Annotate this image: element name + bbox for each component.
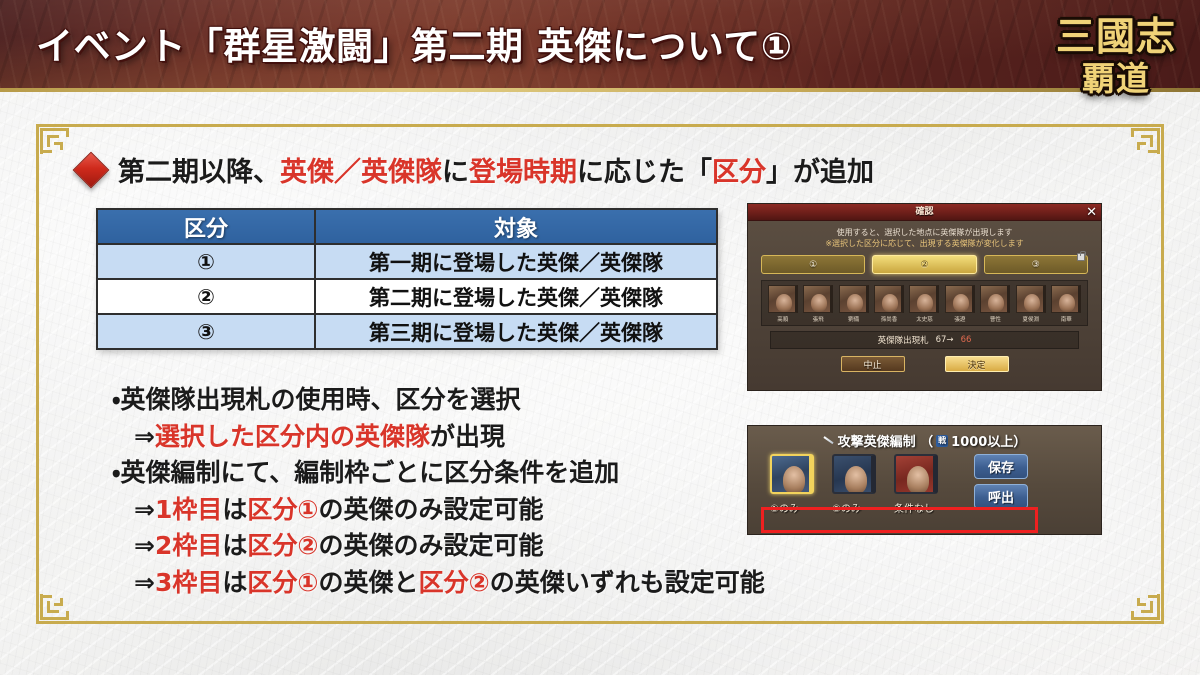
formation-slot-row: ①のみ ②のみ 条件なし 保存 呼出 bbox=[770, 454, 1101, 515]
table-header-kubun: 区分 bbox=[97, 209, 315, 244]
slot3-mid-2: の英傑と bbox=[319, 568, 419, 597]
sword-icon bbox=[823, 435, 835, 447]
table-row: ② 第二期に登場した英傑／英傑隊 bbox=[97, 279, 717, 314]
headline: 第二期以降、英傑／英傑隊に登場時期に応じた「区分」が追加 bbox=[78, 150, 874, 189]
bullet-1-tail: が出現 bbox=[430, 422, 505, 451]
hero-name: 夏侯淵 bbox=[1013, 315, 1048, 323]
slot1-tail: の英傑のみ設定可能 bbox=[319, 495, 544, 524]
formation-slot-2[interactable]: ②のみ bbox=[832, 454, 894, 515]
dialog-message-line-2: ※選択した区分に応じて、出現する英傑隊が変化します bbox=[756, 238, 1093, 249]
slot2-red: 2枠目 bbox=[155, 531, 222, 560]
hero-name: 張遼 bbox=[942, 315, 977, 323]
lock-icon bbox=[1077, 253, 1085, 261]
hero-name: 南華 bbox=[1049, 315, 1084, 323]
diamond-bullet-icon bbox=[73, 151, 110, 188]
close-icon[interactable]: ✕ bbox=[1086, 204, 1097, 221]
dialog-actions: 中止 決定 bbox=[756, 356, 1093, 372]
ticket-counter: 英傑隊出現札 67→66 bbox=[770, 331, 1079, 349]
headline-seg-red-3: 区分 bbox=[712, 157, 766, 188]
headline-seg-red-2: 登場時期 bbox=[469, 157, 577, 188]
frame-corner-top-right bbox=[1118, 124, 1164, 160]
hero-item[interactable]: 南華 bbox=[1049, 285, 1084, 323]
kubun-table: 区分 対象 ① 第一期に登場した英傑／英傑隊 ② 第二期に登場した英傑／英傑隊 … bbox=[96, 208, 718, 350]
slot3-tail: の英傑いずれも設定可能 bbox=[490, 568, 765, 597]
bullet-list: ・英傑隊出現札の使用時、区分を選択 ⇒選択した区分内の英傑隊が出現 ・英傑編制に… bbox=[112, 382, 765, 601]
logo-title-sub: 覇道 bbox=[1046, 52, 1186, 100]
kubun-tab-group: ① ② ③ bbox=[761, 255, 1088, 274]
hero-item[interactable]: 劉備 bbox=[836, 285, 871, 323]
hero-portrait bbox=[768, 285, 798, 313]
battle-power-badge: 戦 bbox=[936, 435, 948, 447]
bullet-line-1-sub: ⇒選択した区分内の英傑隊が出現 bbox=[112, 419, 765, 456]
arrow-glyph: ⇒ bbox=[134, 495, 155, 524]
hero-item[interactable]: 曹性 bbox=[978, 285, 1013, 323]
table-cell-kubun: ③ bbox=[97, 314, 315, 349]
bullet-1-red: 選択した区分内の英傑隊 bbox=[155, 422, 430, 451]
table-cell-target: 第一期に登場した英傑／英傑隊 bbox=[315, 244, 717, 279]
formation-portrait bbox=[832, 454, 876, 494]
header-band: イベント「群星激闘」第二期 英傑について① bbox=[0, 0, 1200, 92]
formation-buttons: 保存 呼出 bbox=[974, 454, 1028, 509]
arrow-glyph: ⇒ bbox=[134, 531, 155, 560]
hero-item[interactable]: 夏侯淵 bbox=[1013, 285, 1048, 323]
formation-title-tail: 1000以上） bbox=[951, 431, 1026, 450]
hero-item[interactable]: 高順 bbox=[765, 285, 800, 323]
hero-item[interactable]: 太史慈 bbox=[907, 285, 942, 323]
slot1-mid: は bbox=[222, 495, 247, 524]
hero-portrait bbox=[1051, 285, 1081, 313]
headline-seg-1: 第二期以降、 bbox=[118, 157, 280, 188]
frame-corner-bottom-right bbox=[1118, 588, 1164, 624]
slot3-kubun-red-1: 区分① bbox=[247, 568, 318, 597]
formation-title: 攻撃英傑編制 （戦1000以上） bbox=[748, 431, 1101, 450]
headline-seg-red-1: 英傑／英傑隊 bbox=[280, 157, 442, 188]
formation-slot-3[interactable]: 条件なし bbox=[894, 454, 956, 515]
bullet-line-2-sub-3: ⇒3枠目は区分①の英傑と区分②の英傑いずれも設定可能 bbox=[112, 565, 765, 602]
hero-name: 太史慈 bbox=[907, 315, 942, 323]
table-cell-target: 第三期に登場した英傑／英傑隊 bbox=[315, 314, 717, 349]
ticket-label: 英傑隊出現札 bbox=[878, 334, 929, 346]
dialog-message-line-1: 使用すると、選択した地点に英傑隊が出現します bbox=[756, 227, 1093, 238]
hero-name: 張飛 bbox=[800, 315, 835, 323]
dialog-title-text: 確認 bbox=[748, 204, 1101, 221]
bullet-line-2-sub-1: ⇒1枠目は区分①の英傑のみ設定可能 bbox=[112, 492, 765, 529]
ticket-before: 67→ bbox=[936, 335, 954, 345]
bullet-line-1: ・英傑隊出現札の使用時、区分を選択 bbox=[112, 382, 765, 419]
slot3-mid-1: は bbox=[222, 568, 247, 597]
recall-button[interactable]: 呼出 bbox=[974, 484, 1028, 509]
game-logo: 三國志 覇道 bbox=[1046, 4, 1186, 108]
hero-name: 劉備 bbox=[836, 315, 871, 323]
hero-portrait bbox=[839, 285, 869, 313]
table-row: ① 第一期に登場した英傑／英傑隊 bbox=[97, 244, 717, 279]
formation-condition-3: 条件なし bbox=[894, 500, 956, 515]
screenshot-formation-panel: 攻撃英傑編制 （戦1000以上） ①のみ ②のみ 条件なし 保存 呼出 bbox=[747, 425, 1102, 535]
formation-portrait bbox=[770, 454, 814, 494]
hero-portrait bbox=[803, 285, 833, 313]
hero-portrait bbox=[945, 285, 975, 313]
kubun-tab-3[interactable]: ③ bbox=[984, 255, 1088, 274]
slot2-mid: は bbox=[222, 531, 247, 560]
headline-text: 第二期以降、英傑／英傑隊に登場時期に応じた「区分」が追加 bbox=[118, 150, 874, 189]
formation-title-text: 攻撃英傑編制 （ bbox=[838, 431, 934, 450]
table-header-row: 区分 対象 bbox=[97, 209, 717, 244]
kubun-tab-3-label: ③ bbox=[1032, 260, 1040, 270]
slot3-kubun-red-2: 区分② bbox=[419, 568, 490, 597]
table-cell-target: 第二期に登場した英傑／英傑隊 bbox=[315, 279, 717, 314]
frame-corner-bottom-left bbox=[36, 588, 82, 624]
formation-condition-1: ①のみ bbox=[770, 500, 832, 515]
formation-portrait bbox=[894, 454, 938, 494]
table-row: ③ 第三期に登場した英傑／英傑隊 bbox=[97, 314, 717, 349]
kubun-tab-1[interactable]: ① bbox=[761, 255, 865, 274]
hero-portrait bbox=[980, 285, 1010, 313]
hero-name: 曹性 bbox=[978, 315, 1013, 323]
dialog-titlebar: 確認 ✕ bbox=[748, 204, 1101, 221]
dialog-body: 使用すると、選択した地点に英傑隊が出現します ※選択した区分に応じて、出現する英… bbox=[748, 221, 1101, 372]
hero-list: 高順 張飛 劉備 孫尚香 太史慈 bbox=[761, 280, 1088, 326]
hero-item[interactable]: 張飛 bbox=[800, 285, 835, 323]
headline-seg-3: に応じた「 bbox=[577, 157, 712, 188]
confirm-button[interactable]: 決定 bbox=[945, 356, 1009, 372]
frame-corner-top-left bbox=[36, 124, 82, 160]
save-button[interactable]: 保存 bbox=[974, 454, 1028, 479]
slot2-tail: の英傑のみ設定可能 bbox=[319, 531, 544, 560]
bullet-line-2-sub-2: ⇒2枠目は区分②の英傑のみ設定可能 bbox=[112, 528, 765, 565]
page-title: イベント「群星激闘」第二期 英傑について① bbox=[36, 16, 793, 70]
slot2-kubun-red: 区分② bbox=[247, 531, 318, 560]
formation-slot-1[interactable]: ①のみ bbox=[770, 454, 832, 515]
ticket-after: 66 bbox=[961, 335, 972, 345]
slot1-kubun-red: 区分① bbox=[247, 495, 318, 524]
table-cell-kubun: ① bbox=[97, 244, 315, 279]
headline-seg-4: 」が追加 bbox=[766, 157, 874, 188]
slot1-red: 1枠目 bbox=[155, 495, 222, 524]
slot3-red: 3枠目 bbox=[155, 568, 222, 597]
headline-seg-2: に bbox=[442, 157, 469, 188]
hero-item[interactable]: 孫尚香 bbox=[871, 285, 906, 323]
arrow-glyph: ⇒ bbox=[134, 422, 155, 451]
slide-root: イベント「群星激闘」第二期 英傑について① 三國志 覇道 第二期以降、英傑／英傑… bbox=[0, 0, 1200, 675]
hero-name: 孫尚香 bbox=[871, 315, 906, 323]
bullet-line-2: ・英傑編制にて、編制枠ごとに区分条件を追加 bbox=[112, 455, 765, 492]
hero-name: 高順 bbox=[765, 315, 800, 323]
formation-condition-2: ②のみ bbox=[832, 500, 894, 515]
kubun-tab-2[interactable]: ② bbox=[872, 255, 976, 274]
table-cell-kubun: ② bbox=[97, 279, 315, 314]
hero-item[interactable]: 張遼 bbox=[942, 285, 977, 323]
hero-portrait bbox=[909, 285, 939, 313]
cancel-button[interactable]: 中止 bbox=[841, 356, 905, 372]
screenshot-confirm-dialog: 確認 ✕ 使用すると、選択した地点に英傑隊が出現します ※選択した区分に応じて、… bbox=[747, 203, 1102, 391]
hero-portrait bbox=[874, 285, 904, 313]
table-header-target: 対象 bbox=[315, 209, 717, 244]
hero-portrait bbox=[1016, 285, 1046, 313]
arrow-glyph: ⇒ bbox=[134, 568, 155, 597]
